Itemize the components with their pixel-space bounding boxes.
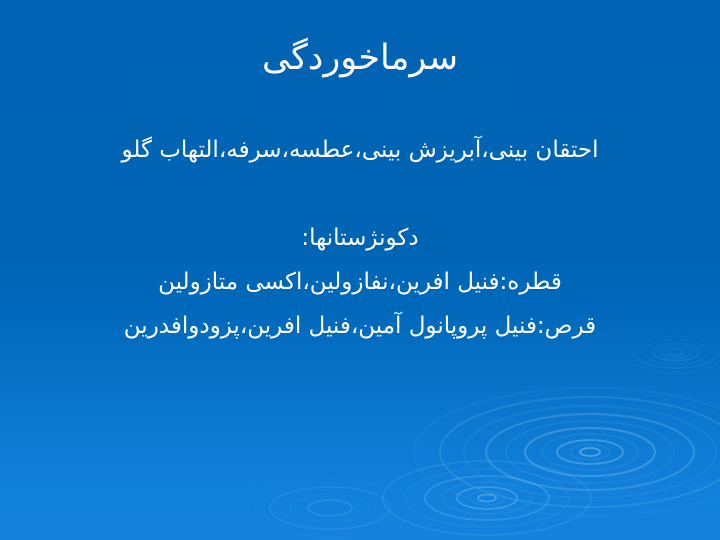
slide-title: سرماخوردگی bbox=[0, 36, 720, 80]
slide-body: احتقان بینی،آبریزش بینی،عطسه،سرفه،التهاب… bbox=[0, 128, 720, 348]
body-line-tablets: قرص:فنیل پروپانول آمین،فنیل افرین،پزودوا… bbox=[0, 304, 720, 348]
presentation-slide: سرماخوردگی احتقان بینی،آبریزش بینی،عطسه،… bbox=[0, 0, 720, 540]
body-line-symptoms: احتقان بینی،آبریزش بینی،عطسه،سرفه،التهاب… bbox=[0, 128, 720, 172]
body-line-drops: قطره:فنیل افرین،نفازولین،اکسی متازولین bbox=[0, 260, 720, 304]
body-line-spacer bbox=[0, 172, 720, 216]
body-line-decongestants-heading: دکونژستانها: bbox=[0, 216, 720, 260]
